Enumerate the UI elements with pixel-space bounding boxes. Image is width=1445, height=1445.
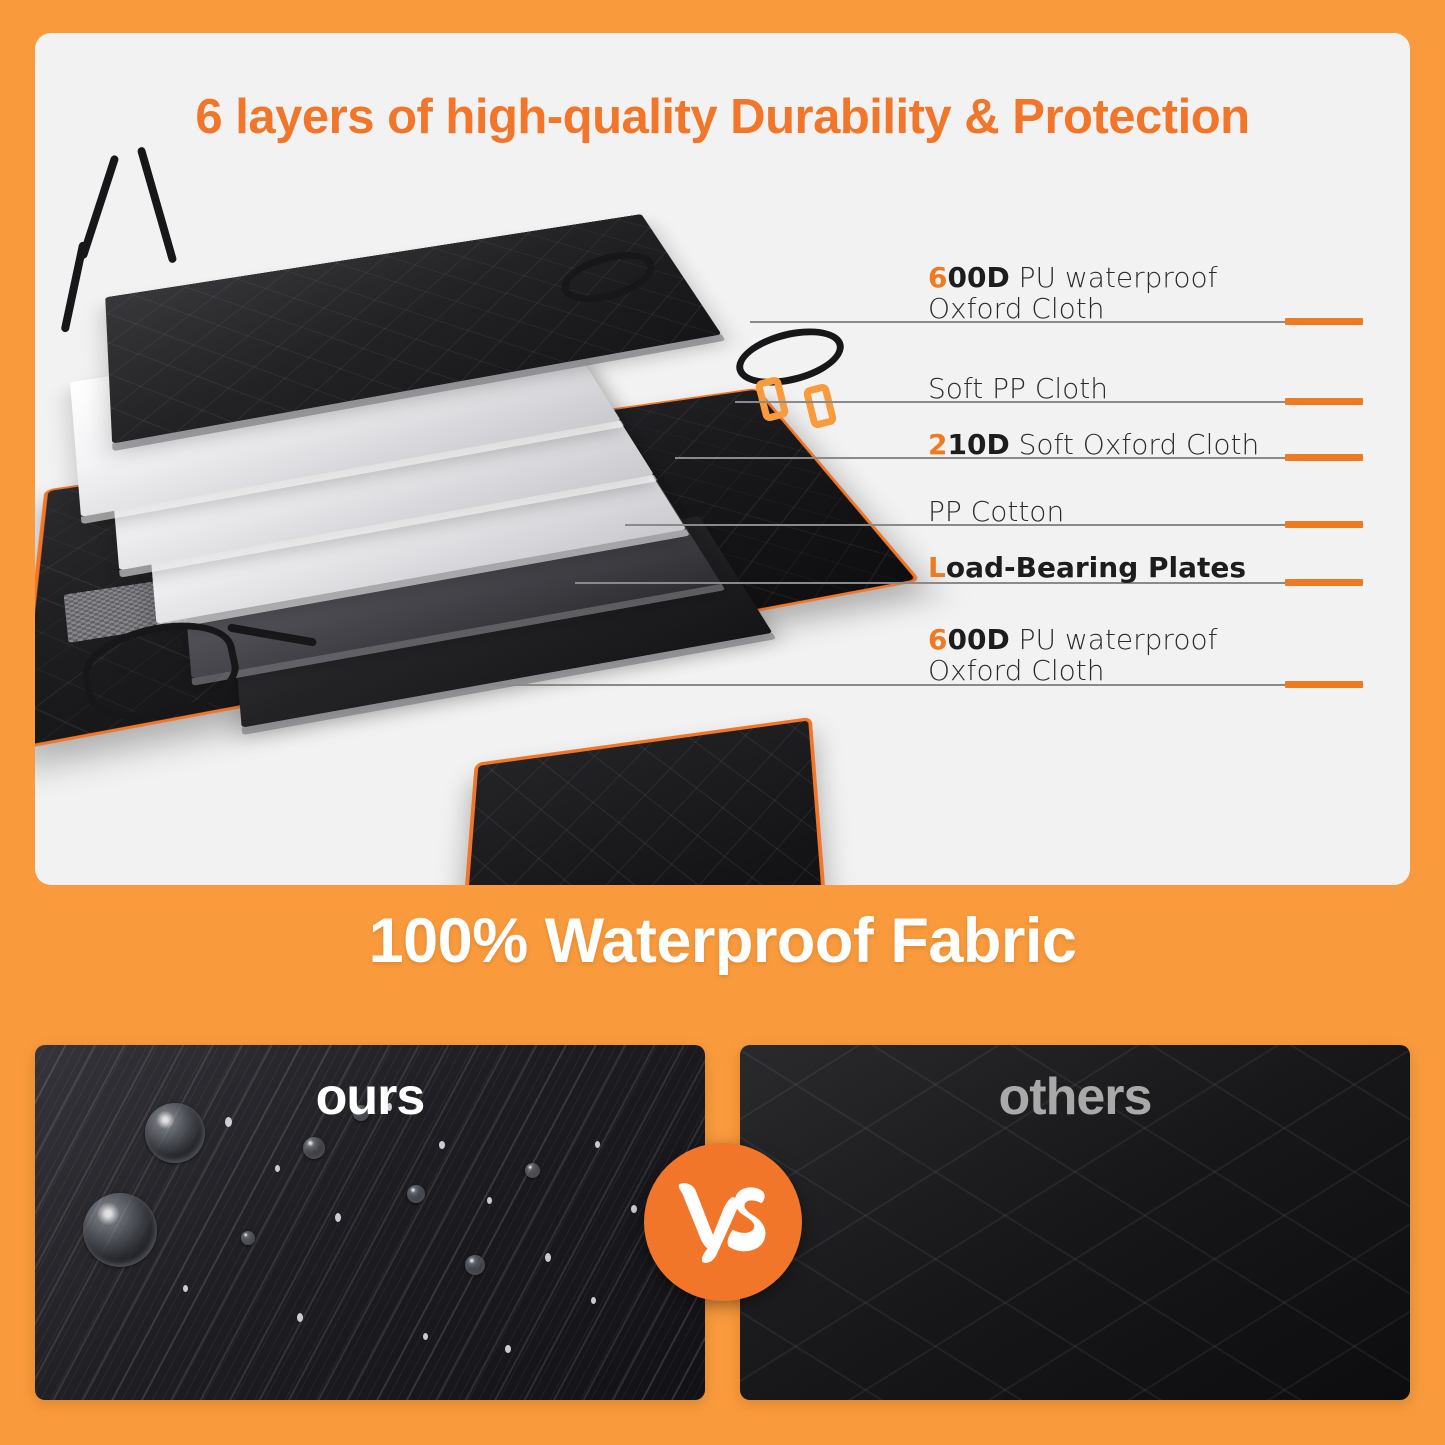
water-speck [297, 1313, 303, 1322]
water-speck [335, 1213, 341, 1222]
layer-label-6: 600D PU waterproof Oxford Cloth [928, 624, 1217, 687]
water-drop-med-3 [407, 1185, 425, 1203]
leader-cap-3 [1285, 454, 1363, 461]
water-speck [591, 1297, 596, 1304]
hero-card: 6 layers of high-quality Durability & Pr… [35, 33, 1410, 885]
vs-icon [668, 1167, 778, 1277]
leader-cap-1 [1285, 318, 1363, 325]
strap-top-left-c [61, 241, 88, 333]
flap-quilt-texture [459, 721, 827, 885]
water-drop-large-2 [83, 1193, 157, 1267]
layer-label-4: PP Cotton [928, 496, 1064, 527]
leader-cap-2 [1285, 398, 1363, 405]
waterproof-banner-title: 100% Waterproof Fabric [0, 905, 1445, 977]
water-speck [631, 1205, 637, 1213]
water-drop-med-6 [525, 1163, 540, 1178]
layer-label-5: Load-Bearing Plates [928, 552, 1246, 583]
water-drop-med-4 [241, 1231, 255, 1245]
water-drop-med-5 [465, 1255, 485, 1275]
water-speck [423, 1333, 428, 1340]
vs-badge [644, 1143, 802, 1301]
water-speck [275, 1165, 280, 1172]
page-title: 6 layers of high-quality Durability & Pr… [35, 89, 1410, 145]
layer-label-2: Soft PP Cloth [928, 373, 1108, 404]
mat-fold-flap [454, 717, 831, 885]
comparison-section: ours others [35, 1045, 1410, 1400]
water-speck [183, 1285, 188, 1292]
panel-label-ours: ours [35, 1067, 705, 1127]
water-speck [505, 1345, 511, 1353]
clip-orange-b [802, 382, 837, 429]
panel-ours: ours [35, 1045, 705, 1400]
layer-label-3: 210D Soft Oxford Cloth [928, 429, 1259, 460]
layer-label-1: 600D PU waterproof Oxford Cloth [928, 262, 1217, 325]
water-speck [487, 1197, 492, 1204]
leader-cap-4 [1285, 521, 1363, 528]
water-speck [439, 1141, 445, 1149]
strap-top-left-b [137, 146, 178, 264]
water-speck [545, 1253, 551, 1262]
water-speck [595, 1141, 600, 1148]
panel-others: others [740, 1045, 1410, 1400]
leader-cap-5 [1285, 579, 1363, 586]
water-drop-med-1 [303, 1137, 325, 1159]
strap-loop-right [730, 318, 849, 395]
leader-cap-6 [1285, 681, 1363, 688]
panel-label-others: others [740, 1067, 1410, 1127]
product-illustration [35, 163, 915, 885]
